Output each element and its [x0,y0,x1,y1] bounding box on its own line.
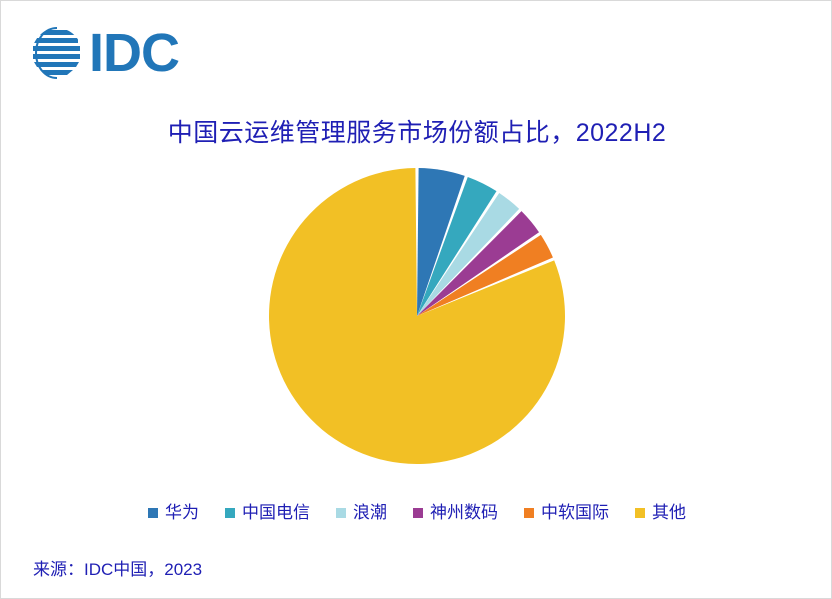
legend-swatch-icon [336,508,346,518]
legend-item[interactable]: 中软国际 [524,504,609,521]
legend-item[interactable]: 浪潮 [336,504,387,521]
legend-swatch-icon [524,508,534,518]
legend-label: 华为 [165,504,199,521]
legend-item[interactable]: 其他 [635,504,686,521]
source-note: 来源：IDC中国，2023 [33,555,202,580]
chart-legend: 华为中国电信浪潮神州数码中软国际其他 [1,504,832,521]
chart-title: 中国云运维管理服务市场份额占比，2022H2 [1,113,832,149]
idc-logo: IDC [31,25,179,81]
legend-swatch-icon [225,508,235,518]
legend-swatch-icon [635,508,645,518]
pie-chart [1,161,832,491]
globe-icon [31,27,83,79]
legend-label: 中国电信 [242,504,310,521]
legend-item[interactable]: 神州数码 [413,504,498,521]
legend-swatch-icon [148,508,158,518]
idc-logo-text: IDC [89,27,179,79]
pie-chart-svg [257,161,577,471]
legend-item[interactable]: 华为 [148,504,199,521]
legend-item[interactable]: 中国电信 [225,504,310,521]
legend-swatch-icon [413,508,423,518]
legend-label: 神州数码 [430,504,498,521]
chart-page: IDC 中国云运维管理服务市场份额占比，2022H2 华为中国电信浪潮神州数码中… [0,0,832,599]
legend-label: 中软国际 [541,504,609,521]
legend-label: 其他 [652,504,686,521]
legend-label: 浪潮 [353,504,387,521]
